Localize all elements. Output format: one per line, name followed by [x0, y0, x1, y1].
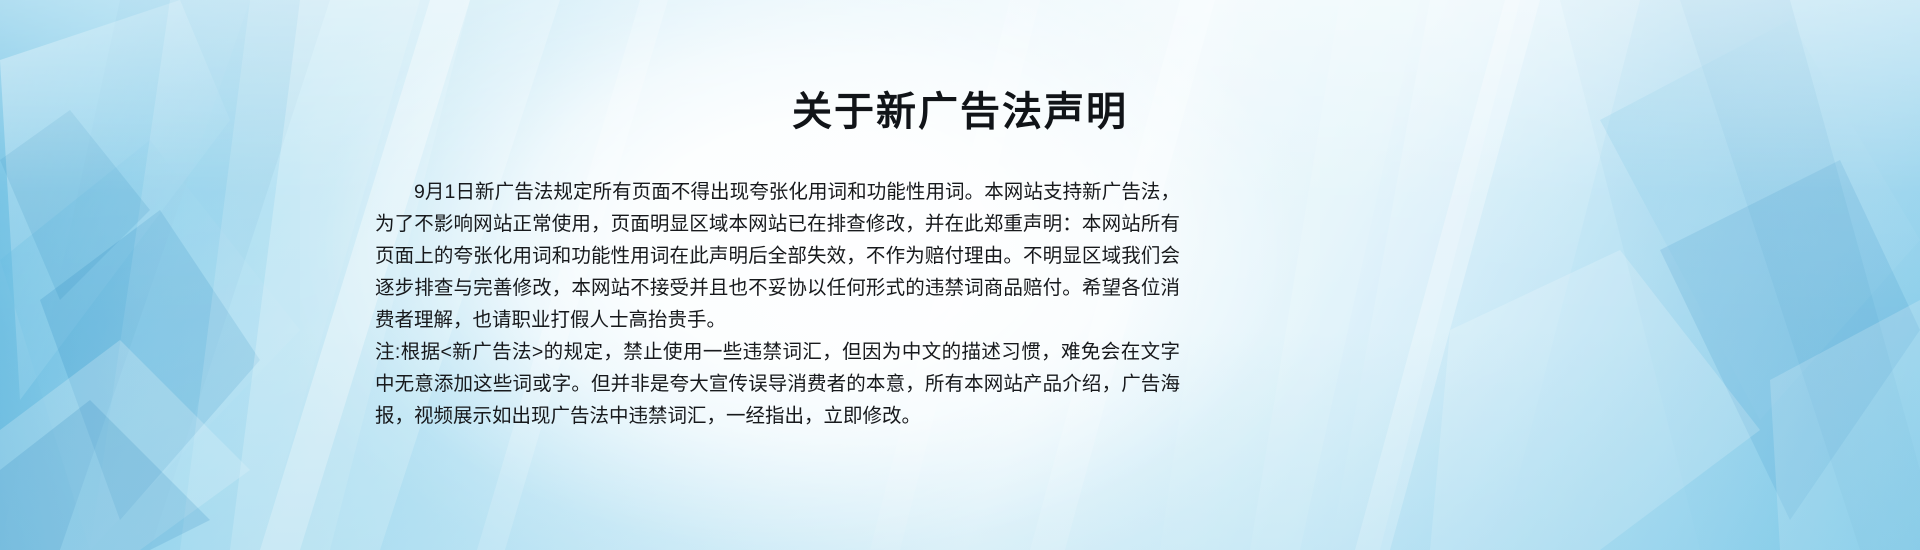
statement-body: 9月1日新广告法规定所有页面不得出现夸张化用词和功能性用词。本网站支持新广告法，…: [375, 176, 1180, 432]
ad-law-statement-banner: 关于新广告法声明 9月1日新广告法规定所有页面不得出现夸张化用词和功能性用词。本…: [0, 0, 1920, 550]
statement-paragraph-1: 9月1日新广告法规定所有页面不得出现夸张化用词和功能性用词。本网站支持新广告法，…: [375, 176, 1180, 336]
page-title: 关于新广告法声明: [0, 88, 1920, 136]
banner-content: 关于新广告法声明 9月1日新广告法规定所有页面不得出现夸张化用词和功能性用词。本…: [0, 0, 1920, 550]
statement-paragraph-2: 注:根据<新广告法>的规定，禁止使用一些违禁词汇，但因为中文的描述习惯，难免会在…: [375, 336, 1180, 432]
